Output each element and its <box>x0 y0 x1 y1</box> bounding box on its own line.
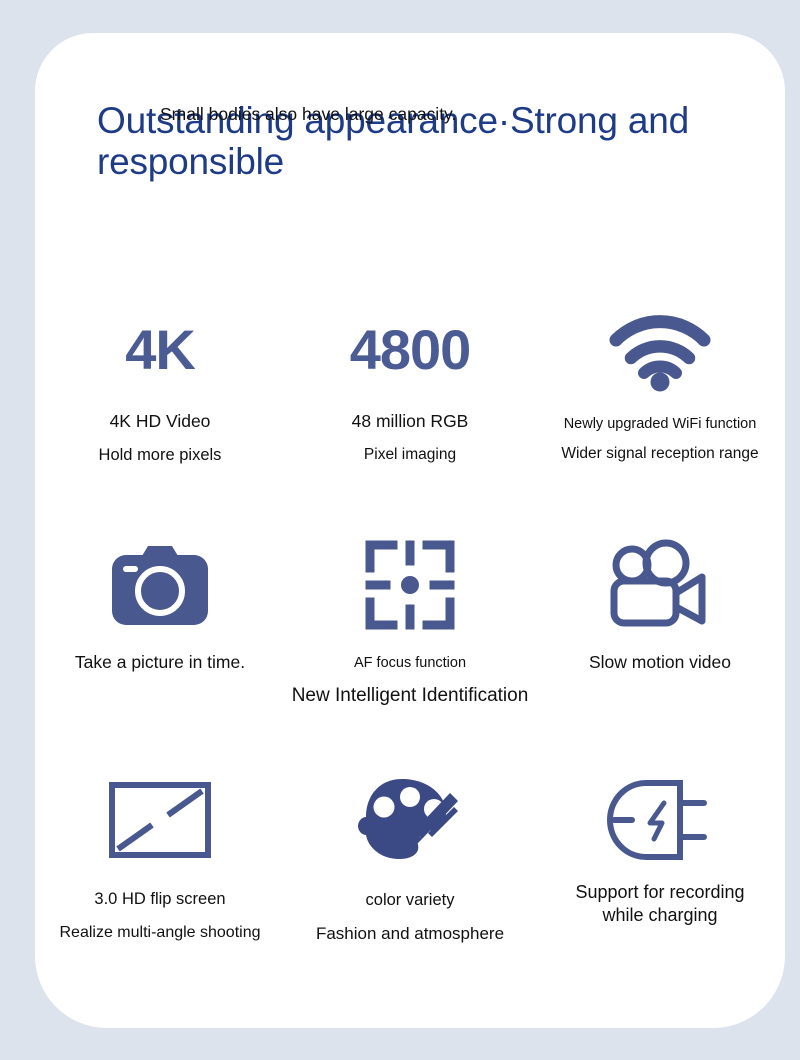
feature-caption-primary: Slow motion video <box>589 652 731 674</box>
feature-caption-primary: AF focus function <box>354 654 466 672</box>
feature-caption-primary: Newly upgraded WiFi function <box>564 415 757 433</box>
feature-item-4800: 4800 48 million RGB Pixel imaging <box>285 305 535 466</box>
wifi-icon <box>606 305 714 395</box>
video-camera-icon <box>608 540 712 630</box>
feature-caption-secondary: Hold more pixels <box>99 445 222 466</box>
focus-frame-icon <box>366 540 454 630</box>
feature-item-slow-motion: Slow motion video <box>535 540 785 708</box>
feature-row-3: 3.0 HD flip screen Realize multi-angle s… <box>35 775 785 944</box>
feature-item-photo: Take a picture in time. <box>35 540 285 708</box>
4k-text-badge: 4K <box>125 305 195 395</box>
feature-caption-secondary: Pixel imaging <box>364 445 456 464</box>
page-subtitle: Small bodies also have large capacity. <box>160 103 460 126</box>
palette-icon <box>358 775 462 865</box>
power-plug-charge-icon <box>612 775 708 865</box>
feature-caption-primary: color variety <box>366 890 455 911</box>
camera-icon <box>110 540 210 630</box>
feature-caption-primary: 48 million RGB <box>352 411 469 433</box>
feature-item-flip-screen: 3.0 HD flip screen Realize multi-angle s… <box>35 775 285 944</box>
feature-caption-secondary: New Intelligent Identification <box>292 684 529 708</box>
feature-caption-primary: Support for recording while charging <box>560 881 760 926</box>
feature-row-2: Take a picture in time. <box>35 540 785 708</box>
flip-screen-icon <box>108 775 212 865</box>
feature-item-4k: 4K 4K HD Video Hold more pixels <box>35 305 285 466</box>
feature-item-af: AF focus function New Intelligent Identi… <box>285 540 535 708</box>
feature-row-1: 4K 4K HD Video Hold more pixels 4800 48 … <box>35 305 785 466</box>
4k-badge-label: 4K <box>125 322 195 378</box>
feature-item-wifi: Newly upgraded WiFi function Wider signa… <box>535 305 785 466</box>
feature-caption-secondary: Fashion and atmosphere <box>316 923 504 944</box>
feature-caption-primary: Take a picture in time. <box>75 652 245 674</box>
feature-caption-secondary: Realize multi-angle shooting <box>60 923 261 943</box>
feature-caption-primary: 4K HD Video <box>110 411 211 433</box>
feature-item-charging: Support for recording while charging <box>535 775 785 944</box>
4800-badge-label: 4800 <box>350 322 471 378</box>
4800-text-badge: 4800 <box>350 305 471 395</box>
feature-caption-primary: 3.0 HD flip screen <box>94 889 225 910</box>
feature-item-color-variety: color variety Fashion and atmosphere <box>285 775 535 944</box>
product-feature-page: Outstanding appearance·Strong and respon… <box>0 0 800 1060</box>
feature-caption-secondary: Wider signal reception range <box>561 444 758 463</box>
